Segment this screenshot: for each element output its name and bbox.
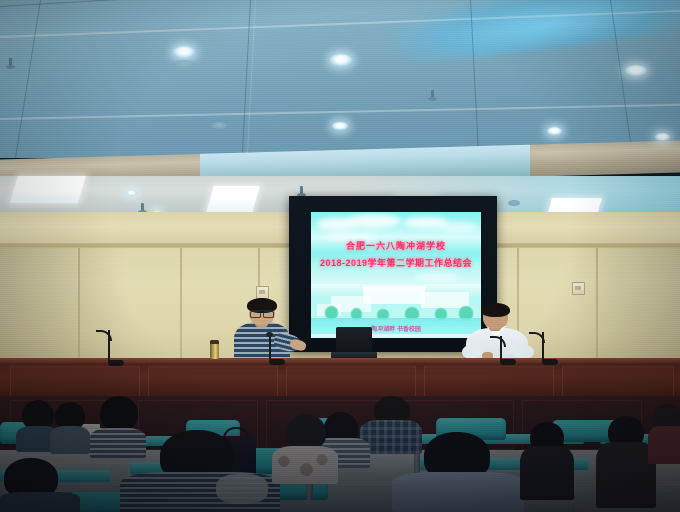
projected-slide: 合肥一六八陶冲湖学校 2018-2019学年第二学期工作总结会 陶冲湖畔 书香校… [311, 212, 481, 338]
microphone-icon[interactable] [538, 332, 554, 361]
audience-person [648, 404, 680, 464]
audience-person [272, 414, 338, 484]
downlight-icon [547, 127, 562, 135]
laptop-lid[interactable] [336, 327, 372, 354]
downlight-icon [655, 133, 670, 141]
head-table-panel [286, 366, 416, 398]
conference-room-photo: 合肥一六八陶冲湖学校 2018-2019学年第二学期工作总结会 陶冲湖畔 书香校… [0, 0, 680, 512]
audience-person [596, 416, 656, 508]
slide-title-line2: 2018-2019学年第二学期工作总结会 [311, 256, 481, 269]
slide-title-line1: 合肥一六八陶冲湖学校 [311, 239, 481, 252]
audience-person-foreground [392, 432, 524, 512]
audience-seating [0, 396, 680, 512]
panel-light-icon [10, 176, 86, 203]
head-table-panel [148, 366, 278, 398]
head-table [0, 358, 680, 400]
wall-seam [78, 248, 80, 368]
audience-person [520, 422, 574, 500]
audience-person-foreground [120, 430, 280, 512]
wall-shadow-right [570, 248, 680, 368]
ceiling-upper [0, 0, 680, 158]
downlight-recess [172, 60, 196, 69]
panel-light-icon [206, 186, 260, 213]
downlight-recess [508, 200, 520, 206]
downlight-icon [330, 54, 352, 66]
audience-person [50, 402, 90, 452]
head-table-panel [10, 366, 140, 398]
wall-seam [180, 248, 182, 368]
microphone-icon[interactable] [496, 336, 512, 361]
head-table-panel [424, 366, 554, 398]
head-table-top [0, 358, 680, 363]
sprinkler-head-icon [8, 58, 13, 69]
wall-outlet[interactable] [572, 282, 585, 295]
presenter-right-hair [481, 303, 510, 317]
microphone-icon[interactable] [265, 335, 281, 361]
microphone-icon[interactable] [104, 330, 120, 362]
ceiling-light-glow [388, 0, 680, 67]
downlight-recess [211, 122, 227, 129]
downlight-icon [126, 190, 137, 196]
presenter-left [228, 298, 298, 360]
downlight-icon [173, 46, 195, 58]
downlight-icon [332, 122, 348, 130]
sprinkler-head-icon [430, 90, 435, 101]
head-table-panel [562, 366, 674, 398]
glasses-icon [250, 310, 274, 316]
wall-seam [596, 248, 598, 368]
thermos-cup[interactable] [210, 340, 219, 359]
audience-person [0, 458, 80, 512]
downlight-icon [625, 65, 647, 76]
